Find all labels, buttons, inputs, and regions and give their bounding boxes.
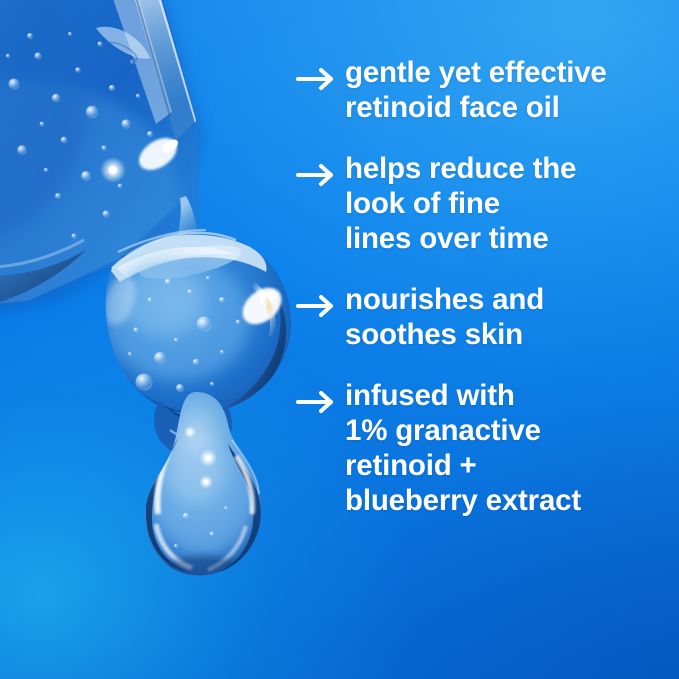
benefit-label: helps reduce the look of fine lines over… (345, 152, 576, 257)
benefit-item: infused with 1% granactive retinoid + bl… (296, 379, 668, 519)
benefit-label: gentle yet effective retinoid face oil (345, 56, 607, 126)
benefits-list: gentle yet effective retinoid face oil h… (296, 56, 668, 518)
arrow-right-icon (296, 62, 336, 96)
benefit-item: gentle yet effective retinoid face oil (296, 56, 668, 126)
arrow-right-icon (296, 289, 336, 323)
benefit-item: nourishes and soothes skin (296, 283, 668, 353)
arrow-right-icon (296, 158, 336, 192)
arrow-right-icon (296, 385, 336, 419)
product-benefits-image: gentle yet effective retinoid face oil h… (0, 0, 679, 679)
benefit-item: helps reduce the look of fine lines over… (296, 152, 668, 257)
benefit-label: infused with 1% granactive retinoid + bl… (345, 379, 581, 519)
benefit-label: nourishes and soothes skin (345, 283, 544, 353)
